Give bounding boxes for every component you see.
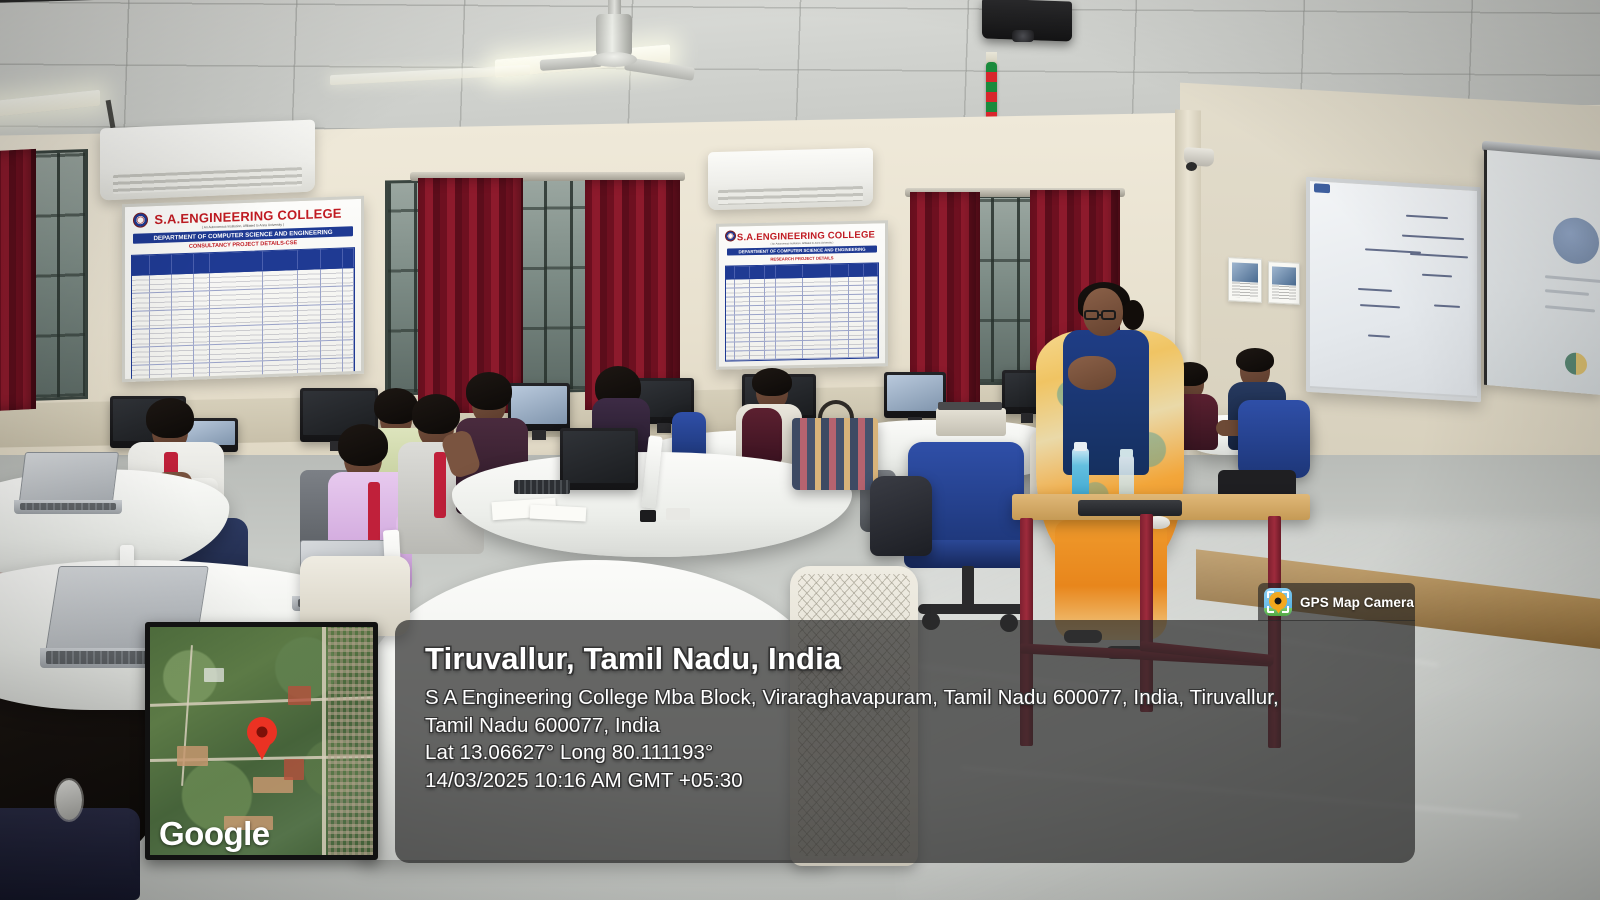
glasses-icon — [1084, 310, 1099, 320]
board-table — [725, 262, 879, 361]
map-location-pin — [247, 717, 277, 747]
bottle-cap — [1074, 442, 1087, 451]
gps-coordinates: Lat 13.06627° Long 80.111193° — [425, 739, 1389, 766]
student-hair — [146, 398, 194, 438]
laptop-closed — [1078, 500, 1182, 516]
gps-camera-app-icon — [1264, 588, 1292, 616]
viewfinder-corner-icon — [1267, 606, 1274, 613]
board-table — [131, 247, 355, 382]
gps-address-line-2: Tamil Nadu 600077, India — [425, 712, 1389, 739]
poster-image — [1232, 262, 1258, 282]
gps-app-name: GPS Map Camera — [1300, 595, 1414, 610]
mobile-phone — [666, 508, 690, 520]
student-hair — [466, 372, 512, 410]
projection-screen — [1484, 150, 1600, 395]
presenter-hands — [1068, 356, 1116, 390]
slide-logo-icon — [1565, 352, 1587, 376]
window-bars — [31, 152, 85, 398]
whiteboard-clip — [1314, 183, 1330, 193]
monitor-stand — [1021, 413, 1033, 423]
gps-address-line-1: S A Engineering College Mba Block, Virar… — [425, 684, 1389, 711]
slide-text-line — [1545, 289, 1589, 296]
laptop-lid — [19, 452, 119, 502]
earring — [56, 780, 82, 820]
monitor-screen — [563, 431, 635, 483]
map-building — [204, 668, 224, 682]
keyboard — [514, 480, 570, 494]
student-blouse — [742, 408, 782, 464]
student-hair — [412, 394, 460, 434]
whiteboard-writing — [1368, 334, 1390, 337]
backpack — [870, 476, 932, 556]
cctv-lens-icon — [1186, 162, 1197, 171]
presenter-hair-bun — [1122, 300, 1144, 330]
wall-poster — [1228, 257, 1262, 303]
water-bottle — [1072, 448, 1089, 498]
map-building — [288, 686, 310, 704]
student-hair — [1236, 348, 1274, 372]
paper-sheet — [530, 505, 587, 522]
student-hair — [338, 424, 388, 466]
gps-map-thumbnail[interactable]: Google — [145, 622, 378, 860]
ceiling-fan-hub — [591, 52, 637, 67]
notice-board-research: S.A.ENGINEERING COLLEGE ( An Autonomous … — [716, 220, 888, 370]
split-air-conditioner — [100, 119, 315, 200]
ac-vent — [718, 186, 863, 205]
gps-city-line: Tiruvallur, Tamil Nadu, India — [425, 642, 1389, 676]
foreground-torso — [0, 808, 140, 900]
whiteboard-writing — [1422, 274, 1452, 278]
laptop-base — [14, 500, 122, 514]
board-kind: RESEARCH PROJECT DETAILS — [725, 254, 879, 262]
split-air-conditioner — [708, 148, 873, 211]
slide-graphic — [1553, 216, 1599, 266]
ac-vent — [113, 167, 302, 194]
projector-lens-icon — [1012, 30, 1034, 42]
bottle-cap — [1120, 449, 1133, 457]
viewfinder-corner-icon — [1282, 591, 1289, 598]
whiteboard-writing — [1358, 288, 1392, 292]
map-building — [284, 759, 304, 780]
monitor-stand — [532, 430, 547, 440]
viewfinder-corner-icon — [1282, 606, 1289, 613]
map-urban-area — [328, 627, 373, 855]
whiteboard-writing — [1410, 253, 1468, 258]
whiteboard-writing — [1406, 215, 1448, 219]
printer-lid — [938, 402, 1002, 410]
whiteboard — [1306, 177, 1481, 402]
notice-board-consultancy: S.A.ENGINEERING COLLEGE ( An Autonomous … — [122, 196, 364, 382]
id-lanyard — [434, 452, 446, 518]
gps-timestamp: 14/03/2025 10:16 AM GMT +05:30 — [425, 767, 1389, 794]
monitor-stand — [657, 423, 671, 433]
map-building — [253, 777, 293, 793]
monitor-screen — [887, 375, 943, 411]
viewfinder-corner-icon — [1267, 591, 1274, 598]
google-watermark: Google — [159, 815, 270, 853]
table-row — [726, 348, 878, 360]
poster-text — [1232, 281, 1258, 299]
smartphone — [640, 510, 656, 522]
curtain — [0, 149, 36, 411]
slide-text-line — [1545, 305, 1595, 312]
whiteboard-writing — [1360, 304, 1400, 308]
gps-info-panel: Tiruvallur, Tamil Nadu, India S A Engine… — [395, 620, 1415, 863]
handbag — [792, 418, 878, 490]
whiteboard-writing — [1434, 304, 1460, 308]
screenshot-root: S.A.ENGINEERING COLLEGE ( An Autonomous … — [0, 0, 1600, 900]
water-bottle — [1119, 455, 1134, 499]
whiteboard-writing — [1402, 235, 1464, 241]
desktop-monitor — [560, 428, 638, 490]
student-hair — [752, 368, 792, 396]
office-chair — [1238, 400, 1310, 478]
gps-app-badge: GPS Map Camera — [1258, 583, 1415, 621]
glasses-bridge — [1099, 314, 1103, 316]
printer — [936, 408, 1006, 436]
whiteboard-writing — [1365, 248, 1421, 253]
window — [28, 149, 88, 401]
map-building — [177, 746, 208, 767]
glasses-icon — [1101, 310, 1116, 320]
slide-text-line — [1545, 275, 1600, 283]
poster-text — [1272, 283, 1296, 300]
laptop-keyboard — [20, 503, 116, 510]
map-road — [322, 627, 326, 855]
wall-poster — [1268, 261, 1300, 305]
